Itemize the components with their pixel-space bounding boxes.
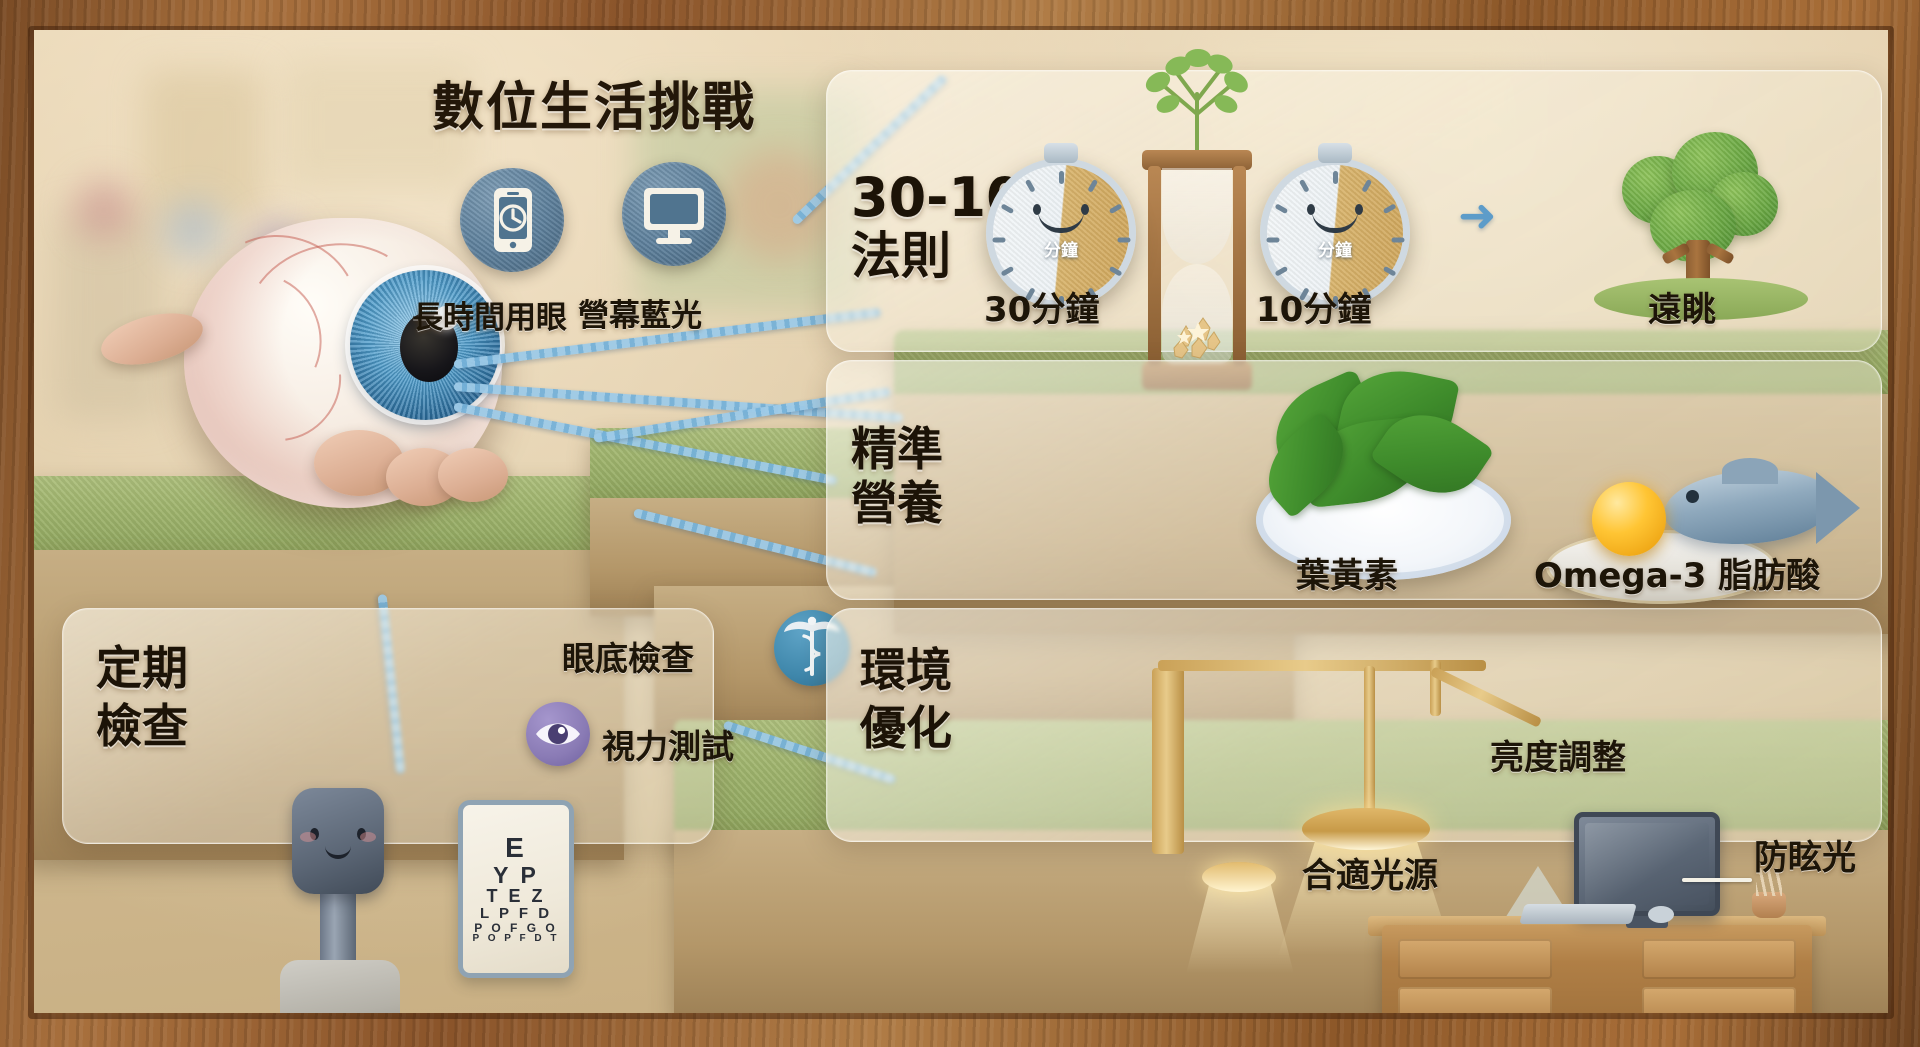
tick <box>1361 179 1372 193</box>
challenge-label-0: 長時間用眼 <box>412 292 567 337</box>
clock-smile <box>1038 211 1084 233</box>
tick <box>1024 179 1035 193</box>
nutrition-heading-line2: 營養 <box>851 479 943 529</box>
tree-top <box>1102 42 1292 150</box>
challenge-label-1: 營幕藍光 <box>578 290 702 335</box>
tree-foliage-glyph <box>1102 42 1292 154</box>
lamp-arm <box>1152 668 1184 854</box>
hourglass <box>1142 150 1252 390</box>
checkup-heading-line1: 定期 <box>96 644 188 694</box>
desk <box>1382 925 1812 1013</box>
phone-clock-glyph <box>460 168 564 272</box>
monitor-glyph <box>622 162 726 266</box>
page-title: 數位生活挑戰 <box>432 82 756 134</box>
environment-label-0: 亮度調整 <box>1490 730 1626 779</box>
lamp-arm <box>1364 666 1375 816</box>
environment-heading-line2: 優化 <box>860 704 952 754</box>
tick <box>1000 203 1014 214</box>
checkup-label-0: 眼底檢查 <box>562 632 694 680</box>
eyeball-foot <box>438 448 508 502</box>
omega-capsule <box>1592 482 1666 556</box>
nutrition-label-0: 葉黃素 <box>1296 548 1398 597</box>
environment-heading-line1: 環境 <box>860 646 952 696</box>
nutrition-label-1: Omega-3 脂肪酸 <box>1534 548 1820 597</box>
fish-tail <box>1816 472 1860 544</box>
eye-chart-row-5: P O P F D T <box>472 934 559 945</box>
rule-label-1: 10分鐘 <box>1256 282 1371 331</box>
tick <box>1108 266 1122 277</box>
clock-smile <box>1312 211 1358 233</box>
tick <box>1108 203 1122 214</box>
tick <box>1298 179 1309 193</box>
clock-knob <box>1044 143 1078 163</box>
tick <box>1333 171 1338 184</box>
eye-chart-row-3: L P F D <box>480 906 552 922</box>
environment-label-2: 防眩光 <box>1754 830 1856 879</box>
environment-label-1: 合適光源 <box>1302 848 1438 897</box>
bg-prop <box>144 70 264 220</box>
tick <box>1382 203 1396 214</box>
tick <box>1274 203 1288 214</box>
checkup-label-1: 視力測試 <box>602 720 734 768</box>
hourglass-sand-glyph <box>1164 278 1230 362</box>
rule-heading-line2: 法則 <box>851 229 951 283</box>
keyboard <box>1519 904 1637 924</box>
eye-chart: E Y P T E Z L P F D P O F G O P O P F D … <box>458 800 574 978</box>
monitor-icon <box>622 162 726 266</box>
monitor-display <box>1574 812 1720 916</box>
mouse <box>1648 906 1674 923</box>
tick <box>1274 266 1288 277</box>
tick <box>1087 179 1098 193</box>
tick <box>1382 266 1396 277</box>
eye-chart-row-0: E <box>505 833 527 862</box>
card-environment[interactable] <box>826 608 1882 842</box>
bg-prop <box>54 210 164 420</box>
rule-label-0: 30分鐘 <box>984 282 1099 331</box>
checkup-heading-line2: 檢查 <box>96 702 188 752</box>
clock-minute-label: 分鐘 <box>993 236 1129 261</box>
eye-glyph <box>526 702 590 766</box>
infographic-scene: 數位生活挑戰 <box>34 30 1888 1013</box>
bg-prop <box>74 180 134 240</box>
eye-chart-row-1: Y P <box>493 863 539 887</box>
tick <box>1000 266 1014 277</box>
lamp-shade-secondary <box>1202 862 1276 892</box>
arrow-right-icon: ➜ <box>1458 188 1497 242</box>
clock-knob <box>1318 143 1352 163</box>
slit-lamp-base <box>280 960 400 1013</box>
phone-clock-icon <box>460 168 564 272</box>
eye-chart-row-2: T E Z <box>487 887 546 906</box>
clock-minute-label: 分鐘 <box>1267 236 1403 261</box>
eye-icon <box>526 702 590 766</box>
lamp-shade <box>1302 808 1430 850</box>
tick <box>1059 171 1064 184</box>
rule-label-2: 遠眺 <box>1648 282 1716 331</box>
nutrition-heading-line1: 精準 <box>851 425 943 475</box>
bg-prop <box>164 200 224 260</box>
anti-glare-callout-line <box>1682 878 1752 882</box>
slit-lamp-head <box>292 788 384 894</box>
